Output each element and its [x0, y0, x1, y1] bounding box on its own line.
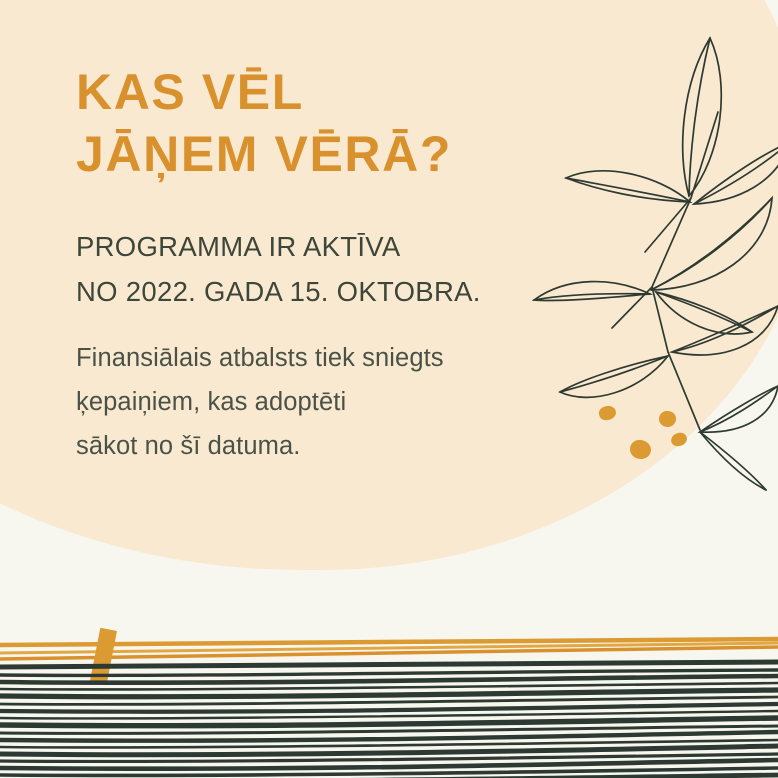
text-block: KAS VĒL JĀŅEM VĒRĀ? PROGRAMMA IR AKTĪVA …: [76, 62, 596, 468]
page-title: KAS VĒL JĀŅEM VĒRĀ?: [76, 62, 596, 185]
body-paragraph: Finansiālais atbalsts tiek sniegts ķepai…: [76, 314, 596, 468]
ground-band: [0, 618, 778, 778]
poster-canvas: KAS VĒL JĀŅEM VĒRĀ? PROGRAMMA IR AKTĪVA …: [0, 0, 778, 778]
subheading: PROGRAMMA IR AKTĪVA NO 2022. GADA 15. OK…: [76, 185, 596, 314]
